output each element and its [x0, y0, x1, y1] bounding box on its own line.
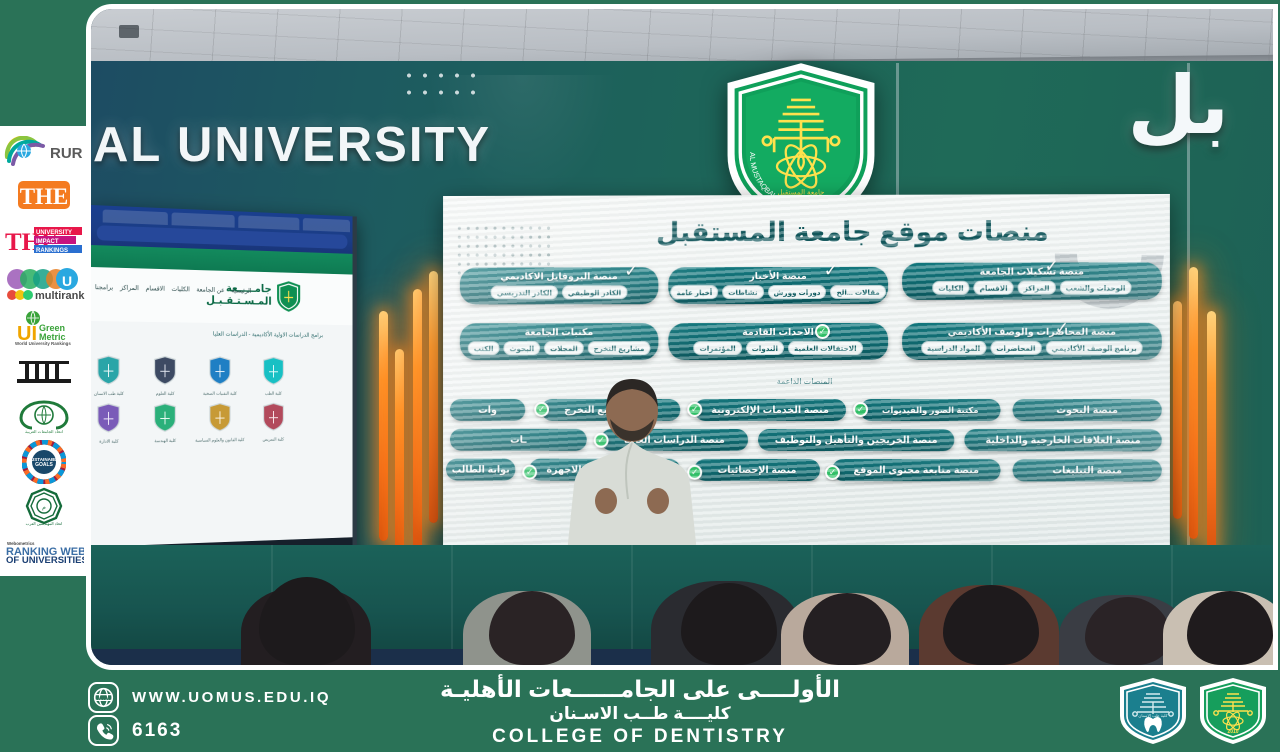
photo-video-library-platform[interactable]: مكتبة الصور والفيديوات — [860, 399, 1000, 421]
checkmark-icon: ✓ — [624, 261, 638, 281]
webometrics-ranking-web-logo: Webometrics RANKING WEB OF UNIVERSITIES — [2, 530, 86, 572]
university-structure-platform[interactable]: منصة تشكيلات الجامعة الوحدات والشعب المر… — [902, 262, 1162, 300]
nav-item[interactable]: برامجنا — [95, 283, 113, 291]
check-circle-icon: ✓ — [853, 402, 868, 417]
group-title: منصة الأخبار — [673, 270, 883, 283]
svg-text:كلية طب الاسنان: كلية طب الاسنان — [1138, 713, 1167, 718]
al-mustaqbal-university-shield-logo: 2010 — [1196, 676, 1270, 746]
nav-item[interactable]: المراكز — [120, 284, 139, 292]
college-label: كلية الهندسة — [138, 438, 192, 445]
wall-dot-grid — [401, 67, 483, 101]
pill[interactable]: الكادر التدريسي — [491, 285, 558, 299]
tagline-arabic: الأولــــى على الجامــــــعات الأهليـة — [0, 675, 1280, 703]
nav-item[interactable]: الاقسام — [146, 284, 165, 292]
pill[interactable]: نشاطات — [722, 285, 763, 299]
svg-text:multirank: multirank — [35, 290, 85, 301]
pill[interactable]: دورات وورش — [768, 285, 827, 299]
pill[interactable]: الكتب — [468, 341, 500, 355]
pill[interactable]: المواد الدراسية — [921, 341, 986, 355]
pill[interactable]: الوحدات والشعب — [1060, 280, 1132, 294]
event-photo-frame: AL UNIVERSITY بل — [86, 4, 1278, 670]
college-label: كلية الادارة — [91, 438, 136, 445]
college-label: كلية القانون والعلوم السياسية — [194, 437, 246, 443]
nav-item[interactable]: الكليات — [171, 285, 189, 293]
pill[interactable]: برنامج الوصف الأكاديمي — [1045, 341, 1142, 355]
svg-text:2010: 2010 — [1227, 729, 1238, 735]
check-circle-icon: ✓ — [825, 465, 840, 480]
footer-logos: كلية طب الاسنان 2010 — [1116, 676, 1270, 746]
group-title: مكتبات الجامعة — [465, 326, 654, 339]
the-ranking-logo: THE — [2, 174, 86, 216]
electronic-services-platform[interactable]: منصة الخدمات الإلكترونية — [694, 399, 846, 421]
pill[interactable]: المحاضرات — [990, 341, 1041, 355]
svg-text:U: U — [62, 273, 72, 289]
ceiling-vent — [119, 25, 139, 38]
browser-tab[interactable] — [303, 218, 350, 232]
college-shield-5[interactable]: كلية الادارة — [91, 403, 136, 445]
rur-ranking-logo: RUR — [2, 130, 86, 172]
pill[interactable]: مشاريع التخرج — [588, 341, 651, 355]
research-platform[interactable]: منصة البحوث — [1013, 399, 1162, 421]
pill[interactable]: الكادر الوظيفي — [562, 285, 627, 299]
event-photo: AL UNIVERSITY بل — [91, 9, 1273, 665]
pill[interactable]: أخبار عامة — [671, 285, 719, 299]
checkmark-icon: ✓ — [824, 261, 838, 281]
svg-text:IMPACT: IMPACT — [36, 239, 59, 245]
nav-item[interactable]: الرئيسية — [231, 287, 251, 295]
ui-greenmetric-logo: UI Green Metric World University Ranking… — [2, 307, 86, 349]
lectures-academic-description-platform[interactable]: منصة المحاضرات والوصف الأكاديمي برنامج ا… — [902, 323, 1162, 360]
svg-text:OF UNIVERSITIES: OF UNIVERSITIES — [6, 555, 84, 564]
college-label: كلية التقنيات الصحية — [194, 391, 246, 397]
graduates-employment-platform[interactable]: منصة الخريجين والتأهيل والتوظيف — [758, 429, 954, 451]
college-label: كلية التمريض — [248, 437, 299, 443]
college-name-english: COLLEGE OF DENTISTRY — [0, 725, 1280, 749]
group-title: منصة تشكيلات الجامعة — [907, 265, 1157, 278]
site-header: جامـــــعة المـسـتـقـبـل الرئيسية عن الج… — [91, 267, 353, 325]
slide-title: منصات موقع جامعة المستقبل — [656, 216, 1049, 248]
colleges-grid: كلية طب الاسنان كلية العلوم كلية التقنيا… — [91, 355, 353, 445]
svg-text:اتحاد الجامعات العربية: اتحاد الجامعات العربية — [25, 429, 63, 434]
college-label: كلية العلوم — [138, 391, 192, 397]
pill[interactable]: البحوث — [503, 341, 540, 355]
college-name-arabic: كليــــة طــب الاسـنان — [0, 703, 1280, 725]
federation-of-arab-engineers-logo: م اتحاد المهندسين العرب — [2, 486, 86, 528]
browser-tab[interactable] — [172, 212, 235, 227]
svg-text:UNIVERSITY: UNIVERSITY — [36, 230, 72, 236]
site-name-line2: المـسـتـقـبـل — [206, 295, 272, 309]
svg-text:اتحاد المهندسين العرب: اتحاد المهندسين العرب — [26, 521, 63, 526]
rankings-sidebar: RUR THE THE UNIVERSITY IMPACT RANKINGS — [0, 126, 88, 576]
upcoming-events-platform[interactable]: الاحداث القادمة الاحتفالات العلمية الندو… — [668, 323, 888, 360]
college-label: كلية الطب — [248, 391, 299, 397]
the-university-impact-rankings-logo: THE UNIVERSITY IMPACT RANKINGS — [2, 218, 86, 260]
browser-tab[interactable] — [103, 209, 168, 225]
scimago-institutions-logo — [2, 351, 86, 393]
pill[interactable]: الاحتفالات العلمية — [788, 341, 863, 355]
svg-text:GOALS: GOALS — [35, 462, 53, 468]
screenshot-root: RUR THE THE UNIVERSITY IMPACT RANKINGS — [0, 0, 1280, 752]
college-shield-placeholder — [300, 357, 350, 397]
college-label: كلية طب الاسنان — [91, 391, 136, 397]
college-shield-2[interactable]: كلية العلوم — [138, 355, 192, 397]
site-body: برامج الدراسات الاولية الأكاديمية - الدر… — [91, 321, 353, 547]
partial-platform-left-row1[interactable]: وات — [450, 399, 525, 421]
nav-item[interactable]: عن الجامعة — [196, 286, 224, 294]
pill[interactable]: الكليات — [932, 281, 969, 295]
college-shield-4[interactable]: كلية الطب — [248, 356, 299, 396]
college-of-dentistry-shield-logo: كلية طب الاسنان — [1116, 676, 1190, 746]
check-circle-icon: ✓ — [815, 324, 830, 339]
site-content-follow-up-platform[interactable]: منصة متابعة محتوى الموقع — [832, 459, 1001, 481]
association-of-arab-universities-logo: اتحاد الجامعات العربية — [2, 395, 86, 437]
breadcrumb: برامج الدراسات الاولية الأكاديمية - الدر… — [213, 331, 323, 339]
checkmark-icon: ✓ — [1055, 319, 1069, 339]
pill[interactable]: الندوات — [746, 341, 784, 355]
college-shield-6[interactable]: كلية الهندسة — [138, 403, 192, 445]
stage-light-bars-right — [1163, 215, 1249, 565]
sustainable-development-goals-logo: SUSTAINABLE GOALS — [2, 440, 86, 484]
pill[interactable]: المراكز — [1018, 281, 1056, 295]
group-title: منصة المحاضرات والوصف الأكاديمي — [907, 326, 1157, 339]
u-multirank-logo: U multirank — [2, 263, 86, 305]
pill[interactable]: المؤتمرات — [694, 341, 742, 355]
announcements-platform[interactable]: منصة التبليغات — [1013, 459, 1162, 481]
browser-tab[interactable] — [238, 215, 299, 230]
footer-title-block: الأولــــى على الجامــــــعات الأهليـة ك… — [0, 675, 1280, 749]
check-circle-icon: ✓ — [522, 465, 537, 480]
svg-text:RANKINGS: RANKINGS — [36, 248, 68, 254]
svg-text:RUR: RUR — [50, 145, 83, 162]
wall-text-university: AL UNIVERSITY — [93, 117, 491, 173]
pill[interactable]: مقالات ...الخ — [830, 285, 885, 299]
website-display-monitor: جامـــــعة المـسـتـقـبـل الرئيسية عن الج… — [91, 205, 357, 573]
college-shield-placeholder — [300, 402, 350, 442]
svg-text:THE: THE — [20, 184, 69, 209]
college-shield-3[interactable]: كلية التقنيات الصحية — [194, 356, 246, 397]
university-libraries-platform[interactable]: مكتبات الجامعة مشاريع التخرج المجلات الب… — [460, 323, 658, 360]
checkmark-icon: ✓ — [1045, 257, 1059, 277]
site-logo-shield — [275, 280, 302, 313]
svg-text:م: م — [42, 505, 46, 511]
college-shield-8[interactable]: كلية التمريض — [248, 402, 299, 443]
wall-text-arabic: بل — [1128, 59, 1229, 152]
group-title: الاحداث القادمة — [673, 326, 883, 339]
external-internal-relations-platform[interactable]: منصة العلاقات الخارجية والداخلية — [964, 429, 1161, 451]
svg-text:World University Rankings: World University Rankings — [15, 341, 71, 346]
footer-bar: WWW WWW.UOMUS.EDU.IQ 6163 الأولــــى على… — [0, 670, 1280, 752]
student-portal-platform[interactable]: بوابة الطالب — [446, 459, 515, 481]
pill[interactable]: الاقسام — [974, 281, 1014, 295]
pill[interactable]: المجلات — [544, 341, 584, 355]
news-platform[interactable]: منصة الأخبار مقالات ...الخ دورات وورش نش… — [668, 267, 888, 304]
college-shield-1[interactable]: كلية طب الاسنان — [91, 355, 136, 397]
college-shield-7[interactable]: كلية القانون والعلوم السياسية — [194, 402, 246, 443]
